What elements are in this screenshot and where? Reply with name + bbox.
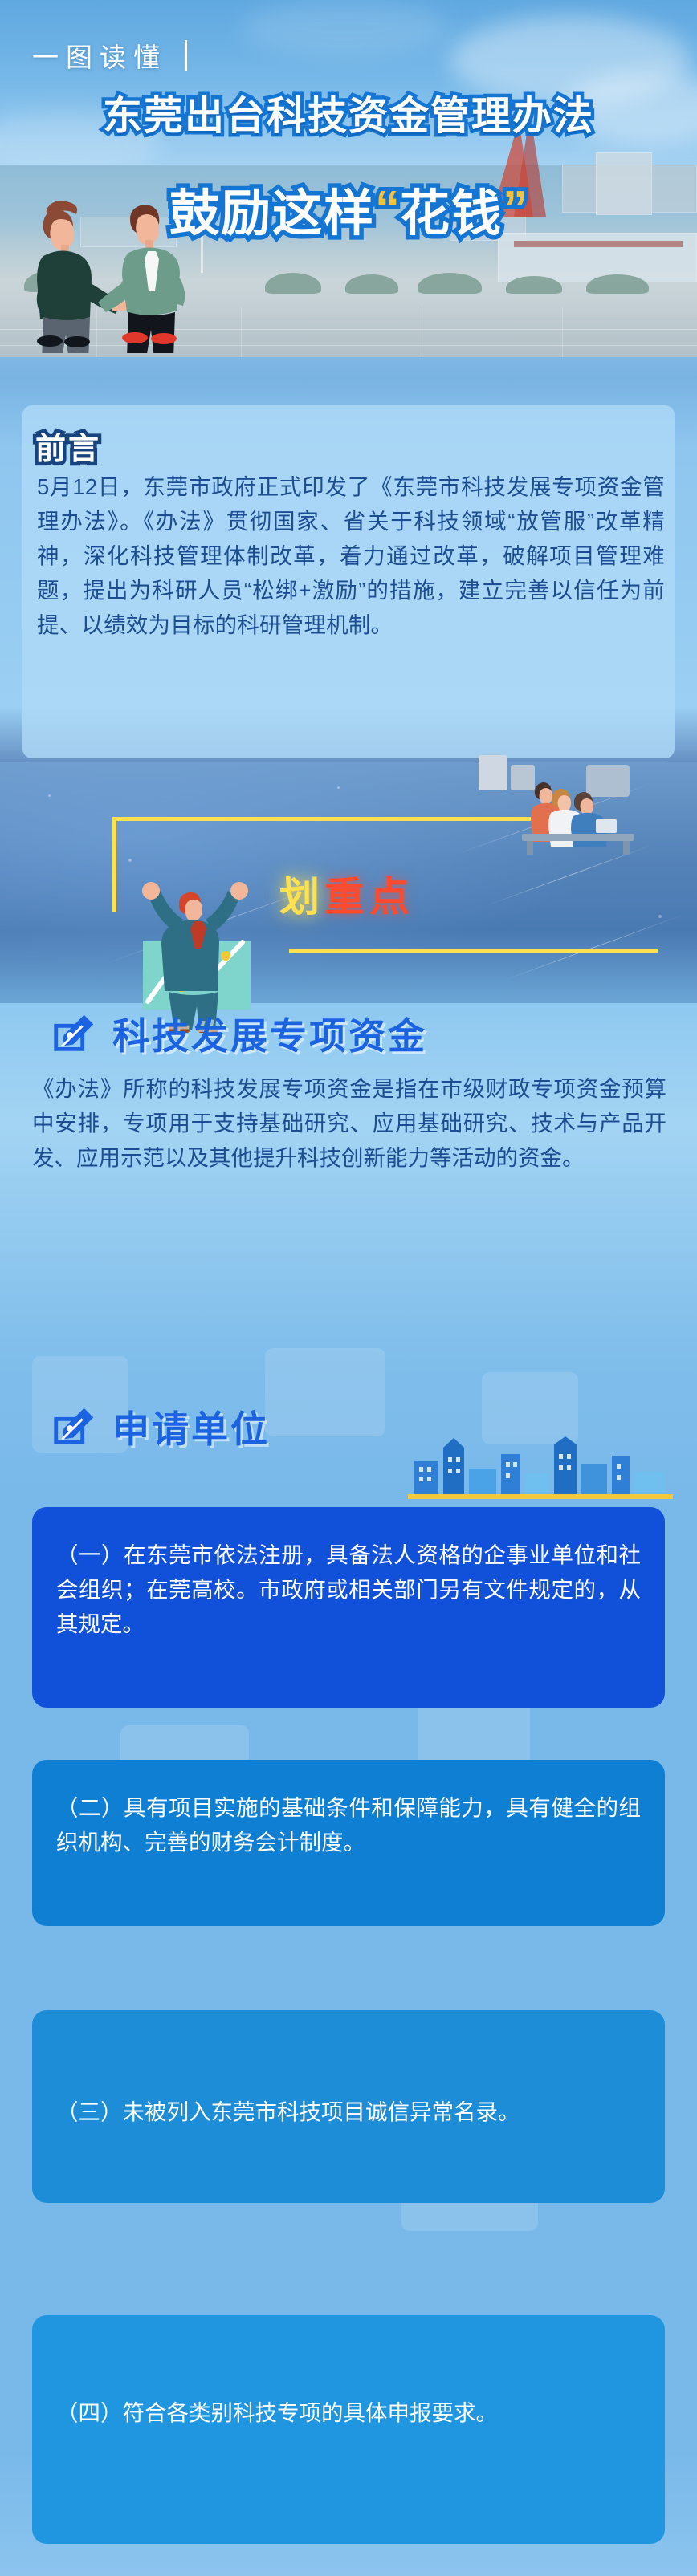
keypoint-title-b: 重点 [324,875,414,920]
document-pen-icon [50,1402,100,1452]
headline-line-2-wrap: 鼓励这样 “ 花钱 ” [0,173,697,245]
applicant-item-text-3: （三）未被列入东莞市科技项目诚信异常名录。 [56,2099,520,2124]
section-heading-fund: 科技发展专项资金 [50,1007,427,1060]
hero-banner: 一图读懂 东莞出台科技资金管理办法 鼓励这样 “ 花钱 ” [0,0,697,357]
section-heading-applicant: 申请单位 [50,1400,270,1453]
quote-close-mark: ” [503,181,528,238]
coin-people-illustration: ¥ [496,349,617,357]
overline-divider [185,40,187,71]
city-skyline-illustration [408,1436,673,1499]
light-streak [503,914,685,981]
headline-line-2-b: 花钱 [400,173,503,245]
keypoint-title-a: 划 [279,875,324,920]
plaza-grid-line [418,307,418,357]
particle-dot [48,794,51,797]
quote-open-mark: “ [375,181,400,238]
office-team-illustration [474,750,642,855]
overline-text: 一图读懂 [32,36,167,75]
keypoint-title: 划重点 [279,865,414,923]
section-title-fund: 科技发展专项资金 [112,1007,427,1060]
preface-badge: 前言 [35,424,101,468]
particle-dot [658,915,662,918]
applicant-item-text-4: （四）符合各类别科技专项的具体申报要求。 [56,2400,498,2425]
cloud-decoration [241,0,450,56]
applicant-item-card-1: （一）在东莞市依法注册，具备法人资格的企事业单位和社会组织；在莞高校。市政府或相… [32,1507,665,1708]
applicant-item-text-1: （一）在东莞市依法注册，具备法人资格的企事业单位和社会组织；在莞高校。市政府或相… [56,1542,641,1636]
plaza-grid-line [241,307,242,357]
preface-body-text: 5月12日，东莞市政府正式印发了《东莞市科技发展专项资金管理办法》。《办法》贯彻… [37,469,665,642]
section-title-applicant: 申请单位 [112,1400,270,1453]
infographic-page: 一图读懂 东莞出台科技资金管理办法 鼓励这样 “ 花钱 ” [0,0,697,2576]
headline-line-2-a: 鼓励这样 [169,173,375,245]
section-body-fund: 《办法》所称的科技发展专项资金是指在市级财政专项资金预算中安排，专项用于支持基础… [32,1071,666,1175]
keypoint-frame-underline [289,949,658,953]
headline-line-1-wrap: 东莞出台科技资金管理办法 [0,84,697,141]
headline-line-1: 东莞出台科技资金管理办法 [103,95,594,138]
applicant-item-card-2: （二）具有项目实施的基础条件和保障能力，具有健全的组织机构、完善的财务会计制度。 [32,1760,665,1926]
applicant-item-text-2: （二）具有项目实施的基础条件和保障能力，具有健全的组织机构、完善的财务会计制度。 [56,1795,641,1855]
overline-group: 一图读懂 [32,36,187,75]
document-pen-icon [50,1009,100,1058]
particle-dot [337,786,340,789]
applicant-item-card-4: （四）符合各类别科技专项的具体申报要求。 [32,2315,665,2544]
applicant-item-card-3: （三）未被列入东莞市科技项目诚信异常名录。 [32,2010,665,2203]
